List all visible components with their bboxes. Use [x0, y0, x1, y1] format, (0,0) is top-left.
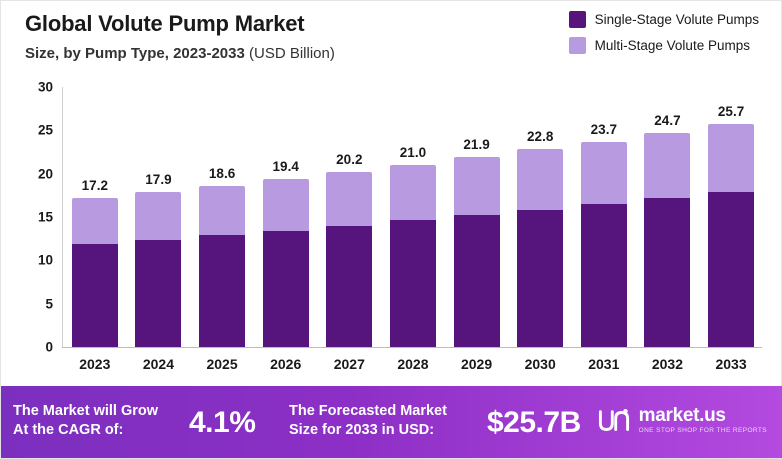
bar-segment-single-stage[interactable]: [135, 240, 181, 347]
chart-legend: Single-Stage Volute Pumps Multi-Stage Vo…: [569, 11, 759, 63]
bar-segment-multi-stage[interactable]: [708, 124, 754, 192]
chart-subtitle: Size, by Pump Type, 2023-2033 (USD Billi…: [25, 45, 335, 62]
brand-logo[interactable]: market.us ONE STOP SHOP FOR THE REPORTS: [597, 406, 767, 435]
cagr-label-line2: At the CAGR of:: [13, 421, 183, 440]
bar-segment-multi-stage[interactable]: [644, 133, 690, 198]
bar-total-label: 23.7: [591, 122, 617, 137]
chart-subtitle-text: Size, by Pump Type, 2023-2033: [25, 45, 245, 62]
x-tick-label: 2033: [708, 351, 754, 377]
y-axis: 051015202530: [1, 79, 63, 379]
legend-swatch-single-stage: [569, 11, 586, 28]
bar-column[interactable]: 23.7: [581, 87, 627, 347]
bar-group: 17.217.918.619.420.221.021.922.823.724.7…: [63, 87, 763, 347]
page-title: Global Volute Pump Market: [25, 11, 304, 37]
bar-segment-multi-stage[interactable]: [581, 142, 627, 204]
bar-column[interactable]: 25.7: [708, 87, 754, 347]
bar-total-label: 17.9: [145, 172, 171, 187]
bar-segment-single-stage[interactable]: [708, 192, 754, 347]
bar-total-label: 17.2: [82, 178, 108, 193]
legend-item-single-stage: Single-Stage Volute Pumps: [569, 11, 759, 28]
bar-segment-single-stage[interactable]: [454, 215, 500, 347]
bar-segment-single-stage[interactable]: [72, 244, 118, 347]
cagr-value: 4.1%: [189, 406, 255, 440]
x-tick-label: 2025: [199, 351, 245, 377]
bar-total-label: 21.0: [400, 145, 426, 160]
x-tick-label: 2029: [454, 351, 500, 377]
y-tick-label: 5: [7, 296, 53, 311]
bar-column[interactable]: 19.4: [263, 87, 309, 347]
bar-segment-single-stage[interactable]: [199, 235, 245, 347]
bar-total-label: 18.6: [209, 166, 235, 181]
footer-banner: The Market will Grow At the CAGR of: 4.1…: [1, 386, 782, 458]
x-tick-label: 2028: [390, 351, 436, 377]
bar-segment-single-stage[interactable]: [644, 198, 690, 347]
bar-segment-multi-stage[interactable]: [326, 172, 372, 226]
bar-segment-multi-stage[interactable]: [263, 179, 309, 231]
plot-area: 051015202530 17.217.918.619.420.221.021.…: [1, 79, 782, 379]
y-tick-label: 10: [7, 253, 53, 268]
bar-column[interactable]: 20.2: [326, 87, 372, 347]
y-tick-label: 15: [7, 210, 53, 225]
bar-segment-single-stage[interactable]: [390, 220, 436, 347]
x-axis-line: [62, 347, 762, 348]
bar-segment-single-stage[interactable]: [326, 226, 372, 347]
bar-segment-multi-stage[interactable]: [390, 165, 436, 220]
forecast-value: $25.7B: [487, 406, 581, 440]
x-tick-label: 2027: [326, 351, 372, 377]
bar-column[interactable]: 17.9: [135, 87, 181, 347]
x-tick-label: 2023: [72, 351, 118, 377]
bar-segment-multi-stage[interactable]: [72, 198, 118, 244]
chart-card: Global Volute Pump Market Size, by Pump …: [0, 0, 782, 459]
forecast-label-line1: The Forecasted Market: [289, 402, 475, 421]
legend-item-multi-stage: Multi-Stage Volute Pumps: [569, 37, 759, 54]
x-tick-label: 2032: [644, 351, 690, 377]
legend-label-multi-stage: Multi-Stage Volute Pumps: [595, 38, 750, 53]
bar-column[interactable]: 24.7: [644, 87, 690, 347]
bar-column[interactable]: 18.6: [199, 87, 245, 347]
x-tick-label: 2026: [263, 351, 309, 377]
y-tick-label: 20: [7, 166, 53, 181]
chart-subtitle-unit: (USD Billion): [249, 45, 335, 62]
bar-segment-multi-stage[interactable]: [454, 157, 500, 215]
brand-tagline: ONE STOP SHOP FOR THE REPORTS: [639, 426, 767, 435]
legend-swatch-multi-stage: [569, 37, 586, 54]
y-tick-label: 0: [7, 340, 53, 355]
brand-text: market.us ONE STOP SHOP FOR THE REPORTS: [639, 406, 767, 435]
x-tick-label: 2031: [581, 351, 627, 377]
y-tick-label: 25: [7, 123, 53, 138]
legend-label-single-stage: Single-Stage Volute Pumps: [595, 12, 759, 27]
bar-column[interactable]: 21.9: [454, 87, 500, 347]
bar-total-label: 19.4: [273, 159, 299, 174]
bar-segment-multi-stage[interactable]: [517, 149, 563, 210]
bar-total-label: 20.2: [336, 152, 362, 167]
bar-total-label: 24.7: [654, 113, 680, 128]
forecast-label: The Forecasted Market Size for 2033 in U…: [289, 402, 475, 440]
bar-segment-multi-stage[interactable]: [135, 192, 181, 240]
bar-segment-single-stage[interactable]: [263, 231, 309, 347]
forecast-label-line2: Size for 2033 in USD:: [289, 421, 475, 440]
bar-segment-single-stage[interactable]: [517, 210, 563, 347]
bar-total-label: 21.9: [463, 137, 489, 152]
bar-total-label: 25.7: [718, 104, 744, 119]
bar-segment-single-stage[interactable]: [581, 204, 627, 347]
cagr-label-line1: The Market will Grow: [13, 402, 183, 421]
x-axis-labels: 2023202420252026202720282029203020312032…: [63, 351, 763, 377]
bar-total-label: 22.8: [527, 129, 553, 144]
bar-column[interactable]: 17.2: [72, 87, 118, 347]
brand-name: market.us: [639, 406, 767, 426]
x-tick-label: 2024: [135, 351, 181, 377]
market-us-logo-icon: [597, 408, 631, 434]
bar-column[interactable]: 22.8: [517, 87, 563, 347]
cagr-label: The Market will Grow At the CAGR of:: [13, 402, 183, 440]
bar-segment-multi-stage[interactable]: [199, 186, 245, 235]
x-tick-label: 2030: [517, 351, 563, 377]
y-tick-label: 30: [7, 80, 53, 95]
bar-column[interactable]: 21.0: [390, 87, 436, 347]
